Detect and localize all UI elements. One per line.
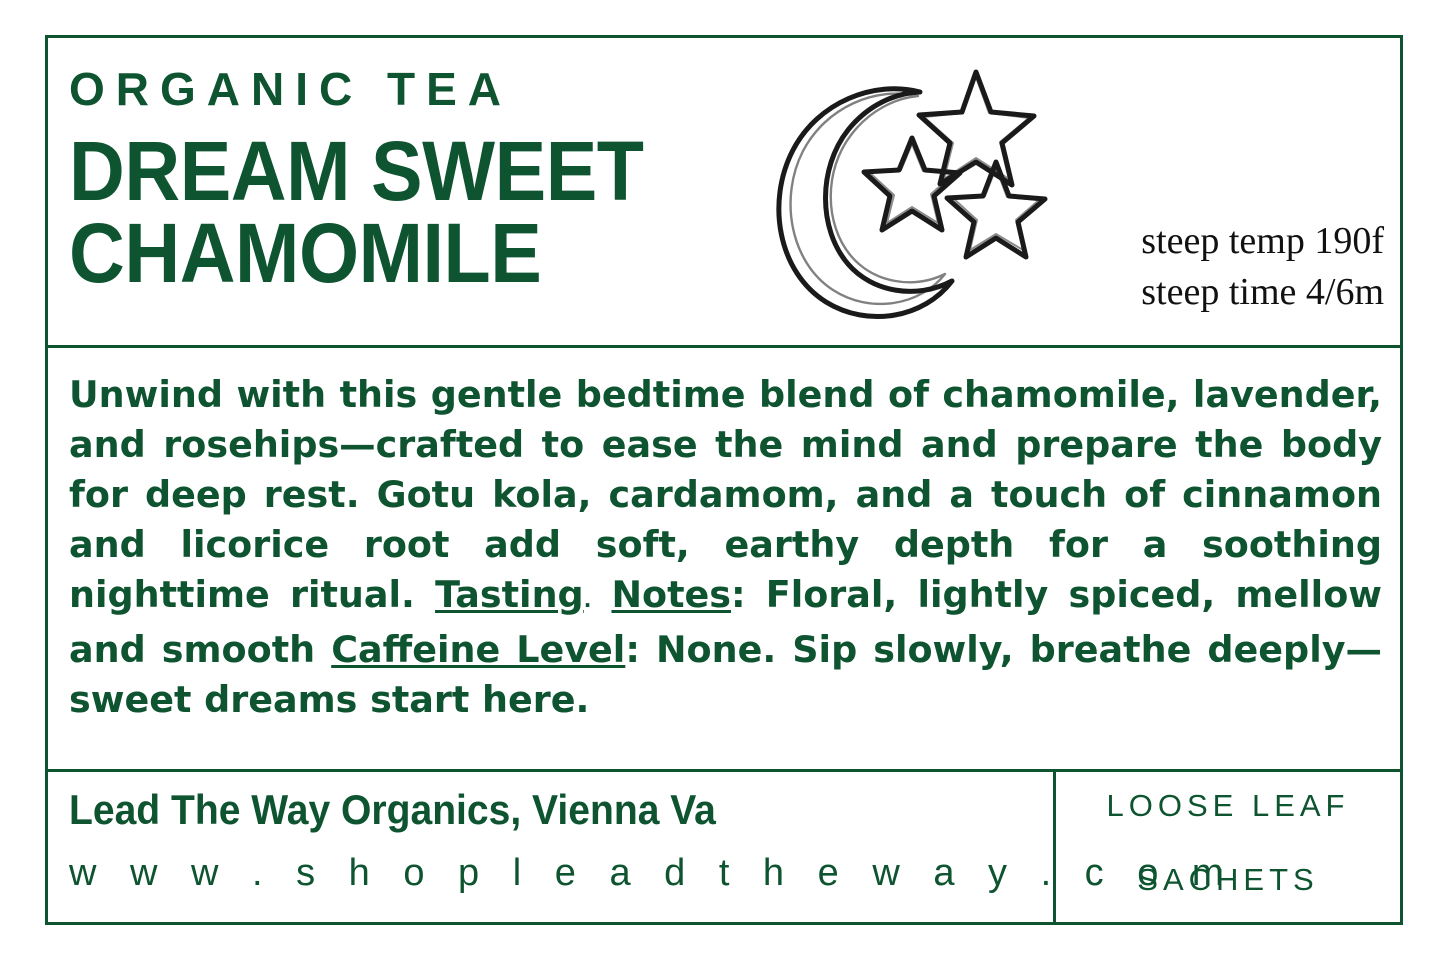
footer-brand-block: Lead The Way Organics, Vienna Va w w w .… [48,772,1056,922]
packaging-format-block: LOOSE LEAF SACHETS [1056,772,1400,922]
tasting-notes-label-part2: Notes [611,573,731,616]
description-section: Unwind with this gentle bedtime blend of… [48,348,1400,772]
moon-and-stars-icon [748,50,1068,335]
page-title: DREAM SWEET CHAMOMILE [69,130,713,295]
product-description: Unwind with this gentle bedtime blend of… [69,370,1382,725]
packaging-line-2: SACHETS [1137,862,1318,898]
label-footer-section: Lead The Way Organics, Vienna Va w w w .… [48,772,1400,922]
label-header-section: ORGANIC TEA DREAM SWEET CHAMOMILE [48,38,1400,348]
packaging-line-1: LOOSE LEAF [1107,788,1350,824]
brand-name: Lead The Way Organics, Vienna Va [69,786,984,834]
title-block: ORGANIC TEA DREAM SWEET CHAMOMILE [69,66,769,295]
brewing-instructions: steep temp 190f steep time 4/6m [1141,216,1384,319]
tasting-notes-trailing-dot: . [584,588,592,612]
product-name-line-2: CHAMOMILE [69,212,713,294]
website-url[interactable]: w w w . s h o p l e a d t h e w a y . c … [69,852,1053,895]
tea-label-card: ORGANIC TEA DREAM SWEET CHAMOMILE [45,35,1403,925]
eyebrow-organic-tea: ORGANIC TEA [69,66,769,112]
steep-time-text: steep time 4/6m [1141,267,1384,318]
caffeine-level-label: Caffeine Level [331,628,625,671]
tasting-notes-label-part1: Tasting [435,573,584,616]
product-name-line-1: DREAM SWEET [69,130,713,212]
steep-temp-text: steep temp 190f [1141,216,1384,267]
